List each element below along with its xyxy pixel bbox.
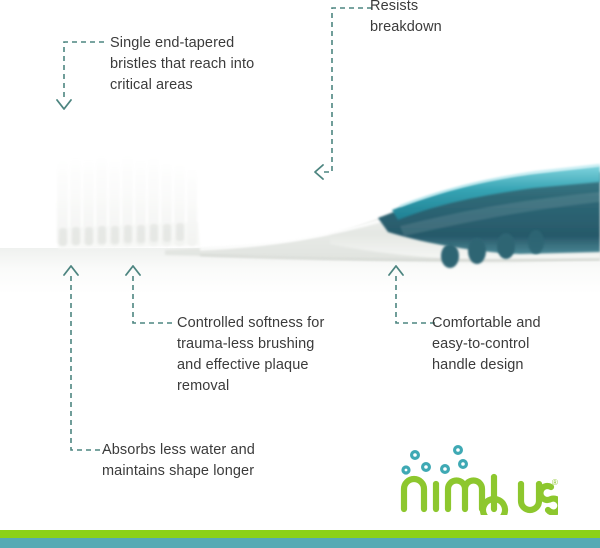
callout-bristles-text: Single end-tapered bristles that reach i… xyxy=(110,33,300,96)
product-feature-infographic: Single end-tapered bristles that reach i… xyxy=(0,0,600,548)
callout-handle-design-text: Comfortable and easy-to-control handle d… xyxy=(432,313,592,376)
logo-wordmark xyxy=(404,477,558,515)
footer-bar-teal xyxy=(0,538,600,548)
callout-controlled-softness-text: Controlled softness for trauma-less brus… xyxy=(177,313,357,397)
callout-resists-breakdown-text: Resists breakdown xyxy=(370,0,520,38)
brush-bristle-head xyxy=(57,113,200,249)
logo-registered-mark: ® xyxy=(552,478,558,487)
callout-absorbs-water-text: Absorbs less water and maintains shape l… xyxy=(102,440,297,482)
nimbus-brand-logo: ® xyxy=(398,443,558,515)
logo-dots xyxy=(403,447,466,473)
connector-bristles xyxy=(56,36,116,116)
footer-bar-green xyxy=(0,530,600,538)
toothbrush-product-image xyxy=(0,110,600,290)
